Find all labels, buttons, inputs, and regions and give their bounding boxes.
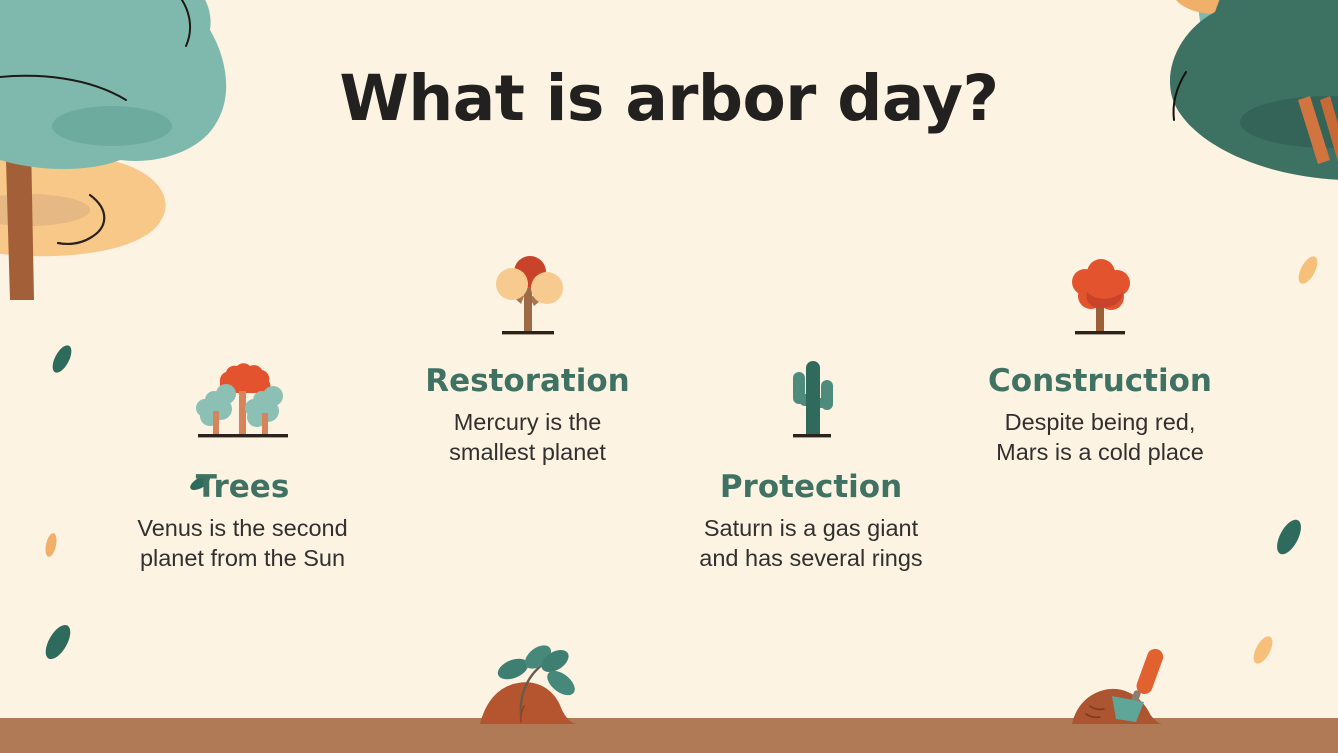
slide: What is arbor day? (0, 0, 1338, 753)
peach-blob-left (496, 268, 528, 300)
teal-back-canopy-shadow (1258, 0, 1338, 58)
front-teal-tree-left (196, 384, 236, 434)
red-tree-trunk (239, 391, 246, 434)
seedling-leaf-2 (521, 641, 556, 674)
seedling-stem (521, 662, 546, 716)
seedling-leaf-3 (538, 645, 573, 676)
teal-tree-right-trunk (262, 413, 268, 434)
feature-item-protection[interactable]: Protection Saturn is a gas giant and has… (680, 356, 942, 573)
trowel-neck (1129, 689, 1141, 706)
leaf-teal-2 (41, 621, 76, 663)
cactus-icon (779, 356, 843, 448)
teal-tree-left-trunk (213, 411, 219, 434)
orange-foliage-accent (58, 195, 104, 244)
leaf-orange-2 (1295, 253, 1321, 286)
seedling-leaf-4 (543, 666, 579, 700)
orange-foliage-blob (0, 152, 166, 256)
page-title: What is arbor day? (0, 62, 1338, 135)
soil-crack-center (521, 706, 524, 722)
feature-title-trees: Trees (105, 470, 380, 504)
soil-mound-right (1072, 689, 1162, 724)
trowel-in-soil (1072, 647, 1165, 724)
top-left-tree (0, 0, 226, 300)
ground-line (198, 434, 288, 437)
feature-title-restoration: Restoration (400, 364, 655, 398)
red-tree-icon (1057, 252, 1143, 346)
trowel-blade (1112, 696, 1144, 722)
soil-crack-right-1 (1090, 706, 1104, 709)
orange-foliage-shadow (0, 194, 90, 226)
leaf-teal-4 (1272, 516, 1306, 558)
feature-title-protection: Protection (680, 470, 942, 504)
round-canopy-tree-icon (484, 252, 572, 346)
feature-description-construction: Despite being red, Mars is a cold place (962, 407, 1238, 467)
trunk (524, 288, 532, 332)
trowel-handle (1134, 647, 1165, 697)
leaf-teal-1 (49, 342, 75, 375)
soil-mound-center (480, 682, 576, 724)
feature-item-restoration[interactable]: Restoration Mercury is the smallest plan… (400, 252, 655, 467)
ground-strip (0, 718, 1338, 753)
ground-line (502, 331, 554, 334)
feature-description-trees: Venus is the second planet from the Sun (105, 513, 380, 573)
seedling-leaf-1 (495, 655, 531, 684)
leaf-orange-3 (1250, 633, 1276, 666)
peach-blob-right (531, 272, 563, 304)
seedling-in-soil (480, 641, 579, 724)
feature-description-restoration: Mercury is the smallest planet (400, 407, 655, 467)
teal-canopy-accent-2 (176, 0, 190, 46)
ground-line (793, 434, 831, 437)
orange-peek-blob (1171, 0, 1259, 14)
three-trees-icon (184, 356, 302, 448)
leaf-orange-1 (44, 532, 59, 558)
cactus-body (806, 361, 820, 434)
soil-crack-right-2 (1086, 714, 1100, 717)
feature-item-construction[interactable]: Construction Despite being red, Mars is … (962, 252, 1238, 467)
ground-line (1075, 331, 1125, 334)
feature-description-protection: Saturn is a gas giant and has several ri… (680, 513, 942, 573)
feature-title-construction: Construction (962, 364, 1238, 398)
feature-item-trees[interactable]: Trees Venus is the second planet from th… (105, 356, 380, 573)
front-teal-tree-right (245, 386, 283, 434)
